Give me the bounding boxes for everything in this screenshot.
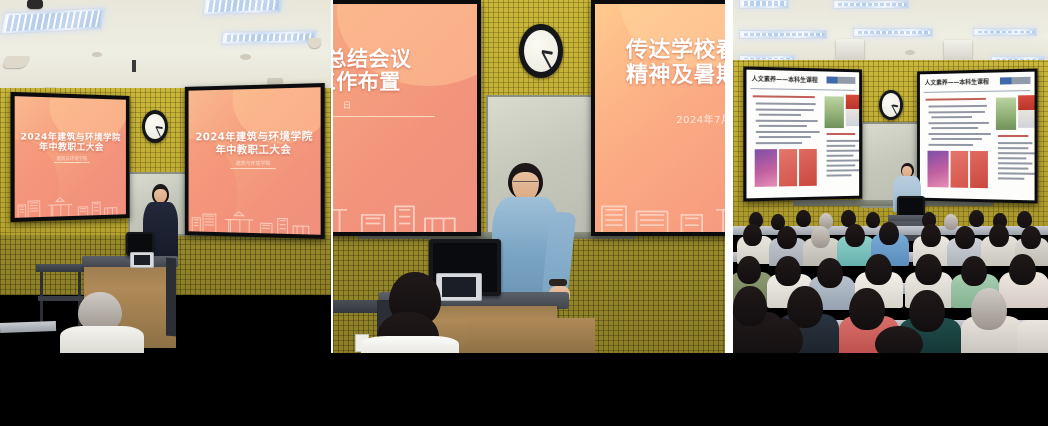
slide-right: 2024年建筑与环境学院 年中教职工大会 建筑与环境学院 bbox=[189, 87, 321, 235]
slide-subtitle: 建筑与环境学院 bbox=[15, 156, 126, 162]
slide-left: 人文素养——本科生课程 bbox=[746, 70, 859, 199]
audience-head bbox=[743, 224, 762, 246]
audience-head bbox=[849, 288, 885, 330]
slide-title: 人文素养——本科生课程 bbox=[925, 77, 989, 87]
book-cover bbox=[970, 151, 988, 188]
slide-date: 2024年7月16日 bbox=[595, 111, 725, 126]
ceiling-light-icon bbox=[739, 0, 789, 9]
audience-head bbox=[961, 256, 987, 286]
panel-right: 人文素养——本科生课程 bbox=[733, 0, 1048, 353]
slide-left: 工作总结会议 点工作布置 日 bbox=[333, 4, 477, 232]
smoke-detector-icon bbox=[240, 54, 251, 60]
book-cover bbox=[779, 149, 797, 186]
projector-icon bbox=[944, 40, 972, 62]
panel-gutter bbox=[725, 0, 733, 353]
slide-title-line1: 传达学校春季工作 bbox=[595, 38, 725, 63]
smoke-detector-icon bbox=[92, 52, 102, 57]
audience-torso bbox=[1017, 320, 1048, 353]
lectern-laptop bbox=[130, 252, 154, 268]
book-cover bbox=[799, 149, 817, 186]
wall-clock bbox=[879, 90, 903, 120]
panel-left: 2024年建筑与环境学院 年中教职工大会 建筑与环境学院 bbox=[0, 0, 331, 353]
audience-head bbox=[737, 256, 761, 284]
ceiling-light-icon bbox=[833, 0, 909, 9]
wristwatch-icon bbox=[549, 279, 567, 286]
slide-subtitle: 建筑与环境学院 bbox=[189, 160, 321, 167]
audience-head bbox=[865, 254, 892, 285]
lectern-laptop bbox=[436, 273, 482, 301]
audience-head bbox=[775, 256, 801, 286]
slide-left: 2024年建筑与环境学院 年中教职工大会 建筑与环境学院 bbox=[15, 96, 126, 218]
chair bbox=[166, 258, 176, 337]
audience-head bbox=[944, 214, 958, 230]
slide-photo bbox=[846, 95, 859, 127]
book-cover bbox=[951, 151, 969, 188]
audience-head bbox=[1009, 254, 1036, 285]
ceiling-light-icon bbox=[221, 30, 317, 45]
school-logo-icon bbox=[1000, 77, 1031, 85]
audience-head bbox=[866, 212, 880, 228]
wall-clock bbox=[142, 110, 168, 143]
projector-screen-right: 2024年建筑与环境学院 年中教职工大会 建筑与环境学院 bbox=[185, 83, 325, 239]
campus-skyline-icon bbox=[15, 185, 126, 218]
audience-torso bbox=[361, 336, 459, 353]
side-table-shelf bbox=[38, 296, 84, 301]
projector-screen-right: 人文素养——本科生课程 bbox=[917, 68, 1038, 203]
school-logo-icon bbox=[827, 76, 856, 83]
desk-wood bbox=[467, 318, 595, 353]
photo-collage: 2024年建筑与环境学院 年中教职工大会 建筑与环境学院 bbox=[0, 0, 1048, 426]
slide-subtitle: 日 bbox=[333, 100, 477, 111]
slide-title-line2: 年中教职工大会 bbox=[189, 143, 321, 156]
slide-title-line2: 年中教职工大会 bbox=[15, 142, 126, 153]
projector-screen-right: 传达学校春季工作 精神及暑期重点工 2024年7月16日 bbox=[591, 0, 725, 236]
projector-screen-left: 2024年建筑与环境学院 年中教职工大会 建筑与环境学院 bbox=[11, 92, 130, 222]
projector-screen-left: 工作总结会议 点工作布置 日 bbox=[333, 0, 481, 236]
ceiling-light-icon bbox=[739, 30, 827, 39]
slide-photo bbox=[1018, 95, 1034, 128]
audience-head bbox=[845, 224, 865, 247]
projector-mount-icon bbox=[132, 60, 136, 72]
slide-title: 人文素养——本科生课程 bbox=[752, 74, 818, 84]
campus-skyline-icon bbox=[333, 174, 477, 232]
book-cover bbox=[928, 151, 949, 188]
ceiling-light-icon bbox=[973, 28, 1037, 36]
wall-clock bbox=[519, 24, 563, 78]
audience-head bbox=[921, 224, 941, 247]
audience-head bbox=[971, 288, 1007, 330]
panel-gutter bbox=[331, 0, 333, 353]
audience-head bbox=[811, 226, 830, 248]
ceiling-light-icon bbox=[853, 28, 933, 37]
audience-head bbox=[777, 226, 797, 249]
projector-icon bbox=[836, 39, 864, 61]
audience-head bbox=[989, 224, 1009, 247]
bench-row bbox=[0, 321, 56, 333]
audience-torso bbox=[60, 326, 144, 353]
slide-title-line2: 点工作布置 bbox=[333, 70, 477, 94]
audience-head bbox=[733, 286, 767, 326]
side-table bbox=[36, 264, 88, 272]
campus-skyline-icon bbox=[595, 174, 725, 232]
ceiling-speaker-icon bbox=[27, 0, 43, 9]
audience-head bbox=[909, 290, 945, 332]
slide-title-line1: 工作总结会议 bbox=[333, 47, 477, 71]
slide-photo bbox=[825, 96, 844, 128]
audience-head bbox=[969, 210, 984, 227]
slide-title-line1: 2024年建筑与环境学院 bbox=[189, 130, 321, 143]
slide-right: 人文素养——本科生课程 bbox=[920, 72, 1035, 201]
audience-head bbox=[817, 258, 843, 288]
audience-head bbox=[915, 254, 942, 285]
slide-title-line2: 精神及暑期重点工 bbox=[595, 63, 725, 88]
black-background bbox=[0, 353, 1048, 426]
smoke-detector-icon bbox=[905, 50, 915, 55]
book-cover bbox=[755, 149, 777, 187]
audience-head bbox=[955, 226, 975, 249]
audience-head bbox=[879, 222, 899, 245]
audience-head bbox=[1021, 226, 1041, 249]
projector-screen-left: 人文素养——本科生课程 bbox=[743, 66, 862, 201]
slide-right: 传达学校春季工作 精神及暑期重点工 2024年7月16日 bbox=[595, 4, 725, 232]
slide-photo bbox=[996, 97, 1016, 130]
campus-skyline-icon bbox=[189, 198, 321, 235]
panel-middle: 工作总结会议 点工作布置 日 bbox=[333, 0, 725, 353]
desk-row bbox=[333, 300, 377, 313]
glasses-icon bbox=[513, 181, 538, 186]
audience-head bbox=[796, 210, 811, 227]
